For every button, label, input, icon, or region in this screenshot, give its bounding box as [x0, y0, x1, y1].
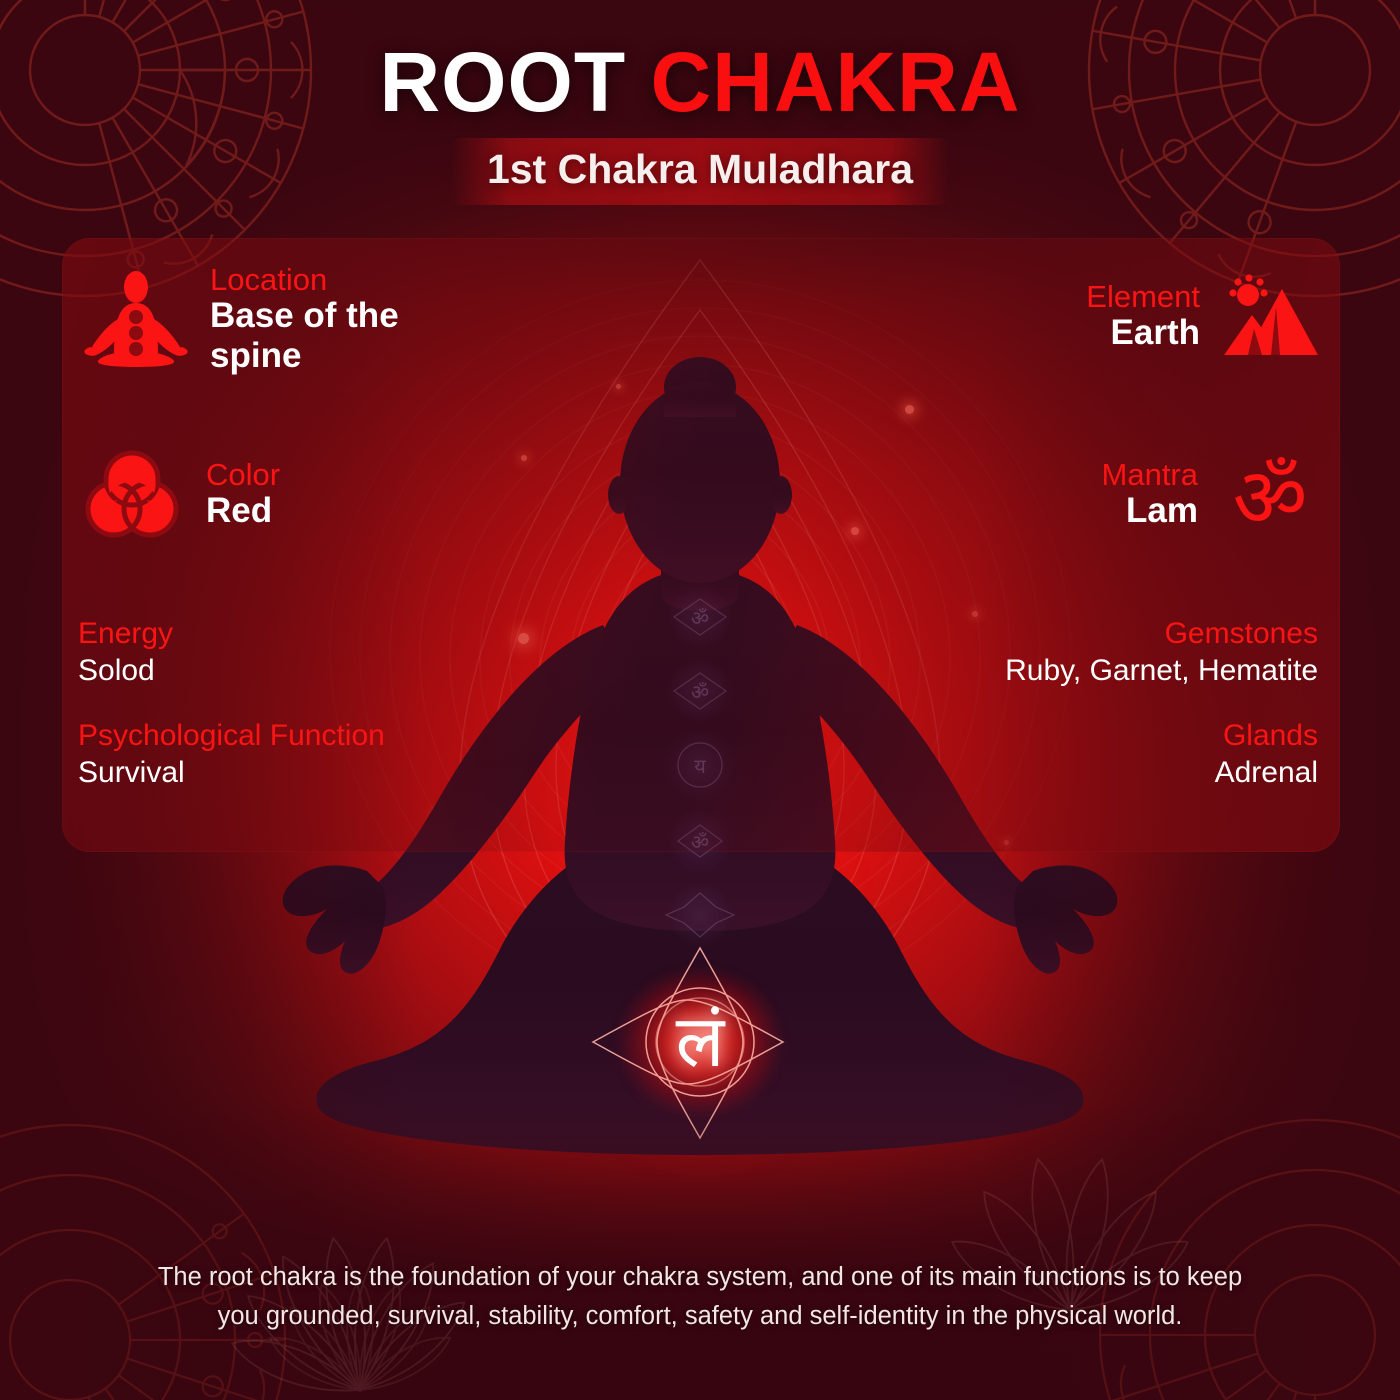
attribute-label: Color	[206, 458, 280, 491]
attribute-color: Color Red	[84, 446, 280, 542]
attribute-label: Element	[1086, 280, 1200, 313]
footer-description: The root chakra is the foundation of you…	[150, 1258, 1250, 1336]
attribute-value: Red	[206, 491, 280, 530]
meditating-figure-icon	[84, 267, 188, 371]
title-word-chakra: CHAKRA	[651, 35, 1021, 129]
attribute-value: Solod	[78, 651, 173, 690]
attribute-label: Location	[210, 263, 450, 296]
attribute-label: Mantra	[1102, 458, 1198, 491]
attribute-label: Energy	[78, 616, 173, 651]
attribute-energy: Energy Solod	[78, 616, 173, 690]
title-word-root: ROOT	[380, 35, 627, 129]
attribute-psychological-function: Psychological Function Survival	[78, 718, 385, 792]
attributes-panel: Location Base of the spine	[62, 238, 1340, 852]
color-circles-icon	[84, 446, 180, 542]
header: ROOT CHAKRA 1st Chakra Muladhara	[0, 0, 1400, 205]
attribute-glands: Glands Adrenal	[1215, 718, 1318, 792]
infographic-canvas: ॐ ॐ य ॐ लं	[0, 0, 1400, 1400]
attribute-element: Element Earth	[1086, 273, 1318, 359]
svg-text:ॐ: ॐ	[1233, 451, 1308, 542]
attribute-mantra: ॐ Mantra Lam	[1102, 446, 1318, 542]
attribute-value: Ruby, Garnet, Hematite	[1005, 651, 1318, 690]
attribute-label: Gemstones	[1005, 616, 1318, 651]
mountain-sun-icon	[1222, 273, 1318, 359]
lotus-mandala-left	[150, 1090, 570, 1400]
attribute-label: Psychological Function	[78, 718, 385, 753]
attribute-label: Glands	[1215, 718, 1318, 753]
attribute-value: Lam	[1102, 491, 1198, 530]
attribute-gemstones: Gemstones Ruby, Garnet, Hematite	[1005, 616, 1318, 690]
attribute-value: Base of the spine	[210, 296, 450, 374]
attribute-value: Survival	[78, 753, 385, 792]
page-title: ROOT CHAKRA	[0, 38, 1400, 126]
attribute-value: Earth	[1086, 313, 1200, 352]
attribute-location: Location Base of the spine	[84, 263, 450, 375]
page-subtitle: 1st Chakra Muladhara	[451, 138, 949, 205]
attribute-value: Adrenal	[1215, 753, 1318, 792]
om-symbol-icon: ॐ	[1222, 446, 1318, 542]
